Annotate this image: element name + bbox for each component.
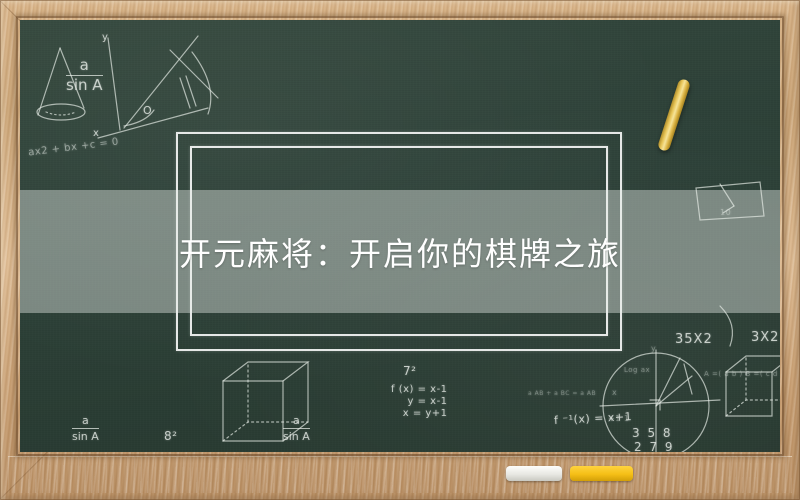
chalkboard-banner: a sin A ax2 + bx +c = 0 y x O f (x) = x-… [0, 0, 800, 500]
exponent-eight-squared: 8² [164, 429, 177, 443]
chalk-piece-white [506, 466, 562, 481]
angle-label-o-top: O [143, 104, 152, 117]
circle-figure [600, 350, 720, 452]
axis-label-x-top: x [93, 128, 99, 139]
carry-marks: +1 1 [608, 414, 629, 423]
function-chain-line3: x = y+1 [391, 408, 448, 420]
chalk-piece-yellow [570, 466, 633, 481]
axis-label-y-top: y [102, 32, 108, 43]
fraction-a-sin-a-left: a sin A [72, 415, 99, 443]
fraction-a-sin-a-top: a sin A [66, 58, 103, 94]
axis-label-x-circle: x [612, 388, 617, 397]
small-expression-ab: a AB + a BC = a AB [528, 390, 596, 397]
subtraction-subtrahend: 2 7 9 [634, 440, 675, 452]
function-chain: f (x) = x-1 y = x-1 x = y+1 [391, 384, 448, 420]
function-chain-line1: f (x) = x-1 [391, 384, 448, 396]
quadratic-equation: ax2 + bx +c = 0 [28, 136, 120, 158]
multiplication-35x2: 35X2 [675, 332, 713, 347]
coordinate-axes-top [98, 36, 218, 138]
inverse-function: f ⁻¹(x) = x+1 [554, 410, 633, 427]
cone-figure [37, 48, 85, 120]
log-ax-note: Log ax [624, 366, 650, 374]
subtraction-minuend: 3 5 8 [632, 426, 673, 440]
matrix-notation: A =( a b ) B =( c d ) I =( 1 0 ) [704, 370, 780, 378]
fraction-a-sin-a-mid: a sin A [283, 415, 310, 443]
cube-figure-left [223, 362, 308, 441]
function-chain-line2: y = x-1 [391, 396, 448, 408]
axis-label-y-circle: y [651, 344, 656, 353]
page-title: 开元麻将：开启你的棋牌之旅 [20, 190, 780, 313]
cube-figure-right [726, 356, 780, 416]
multiplication-3x2: 3X2 [751, 330, 779, 345]
exponent-seven-squared: 7² [403, 364, 416, 378]
